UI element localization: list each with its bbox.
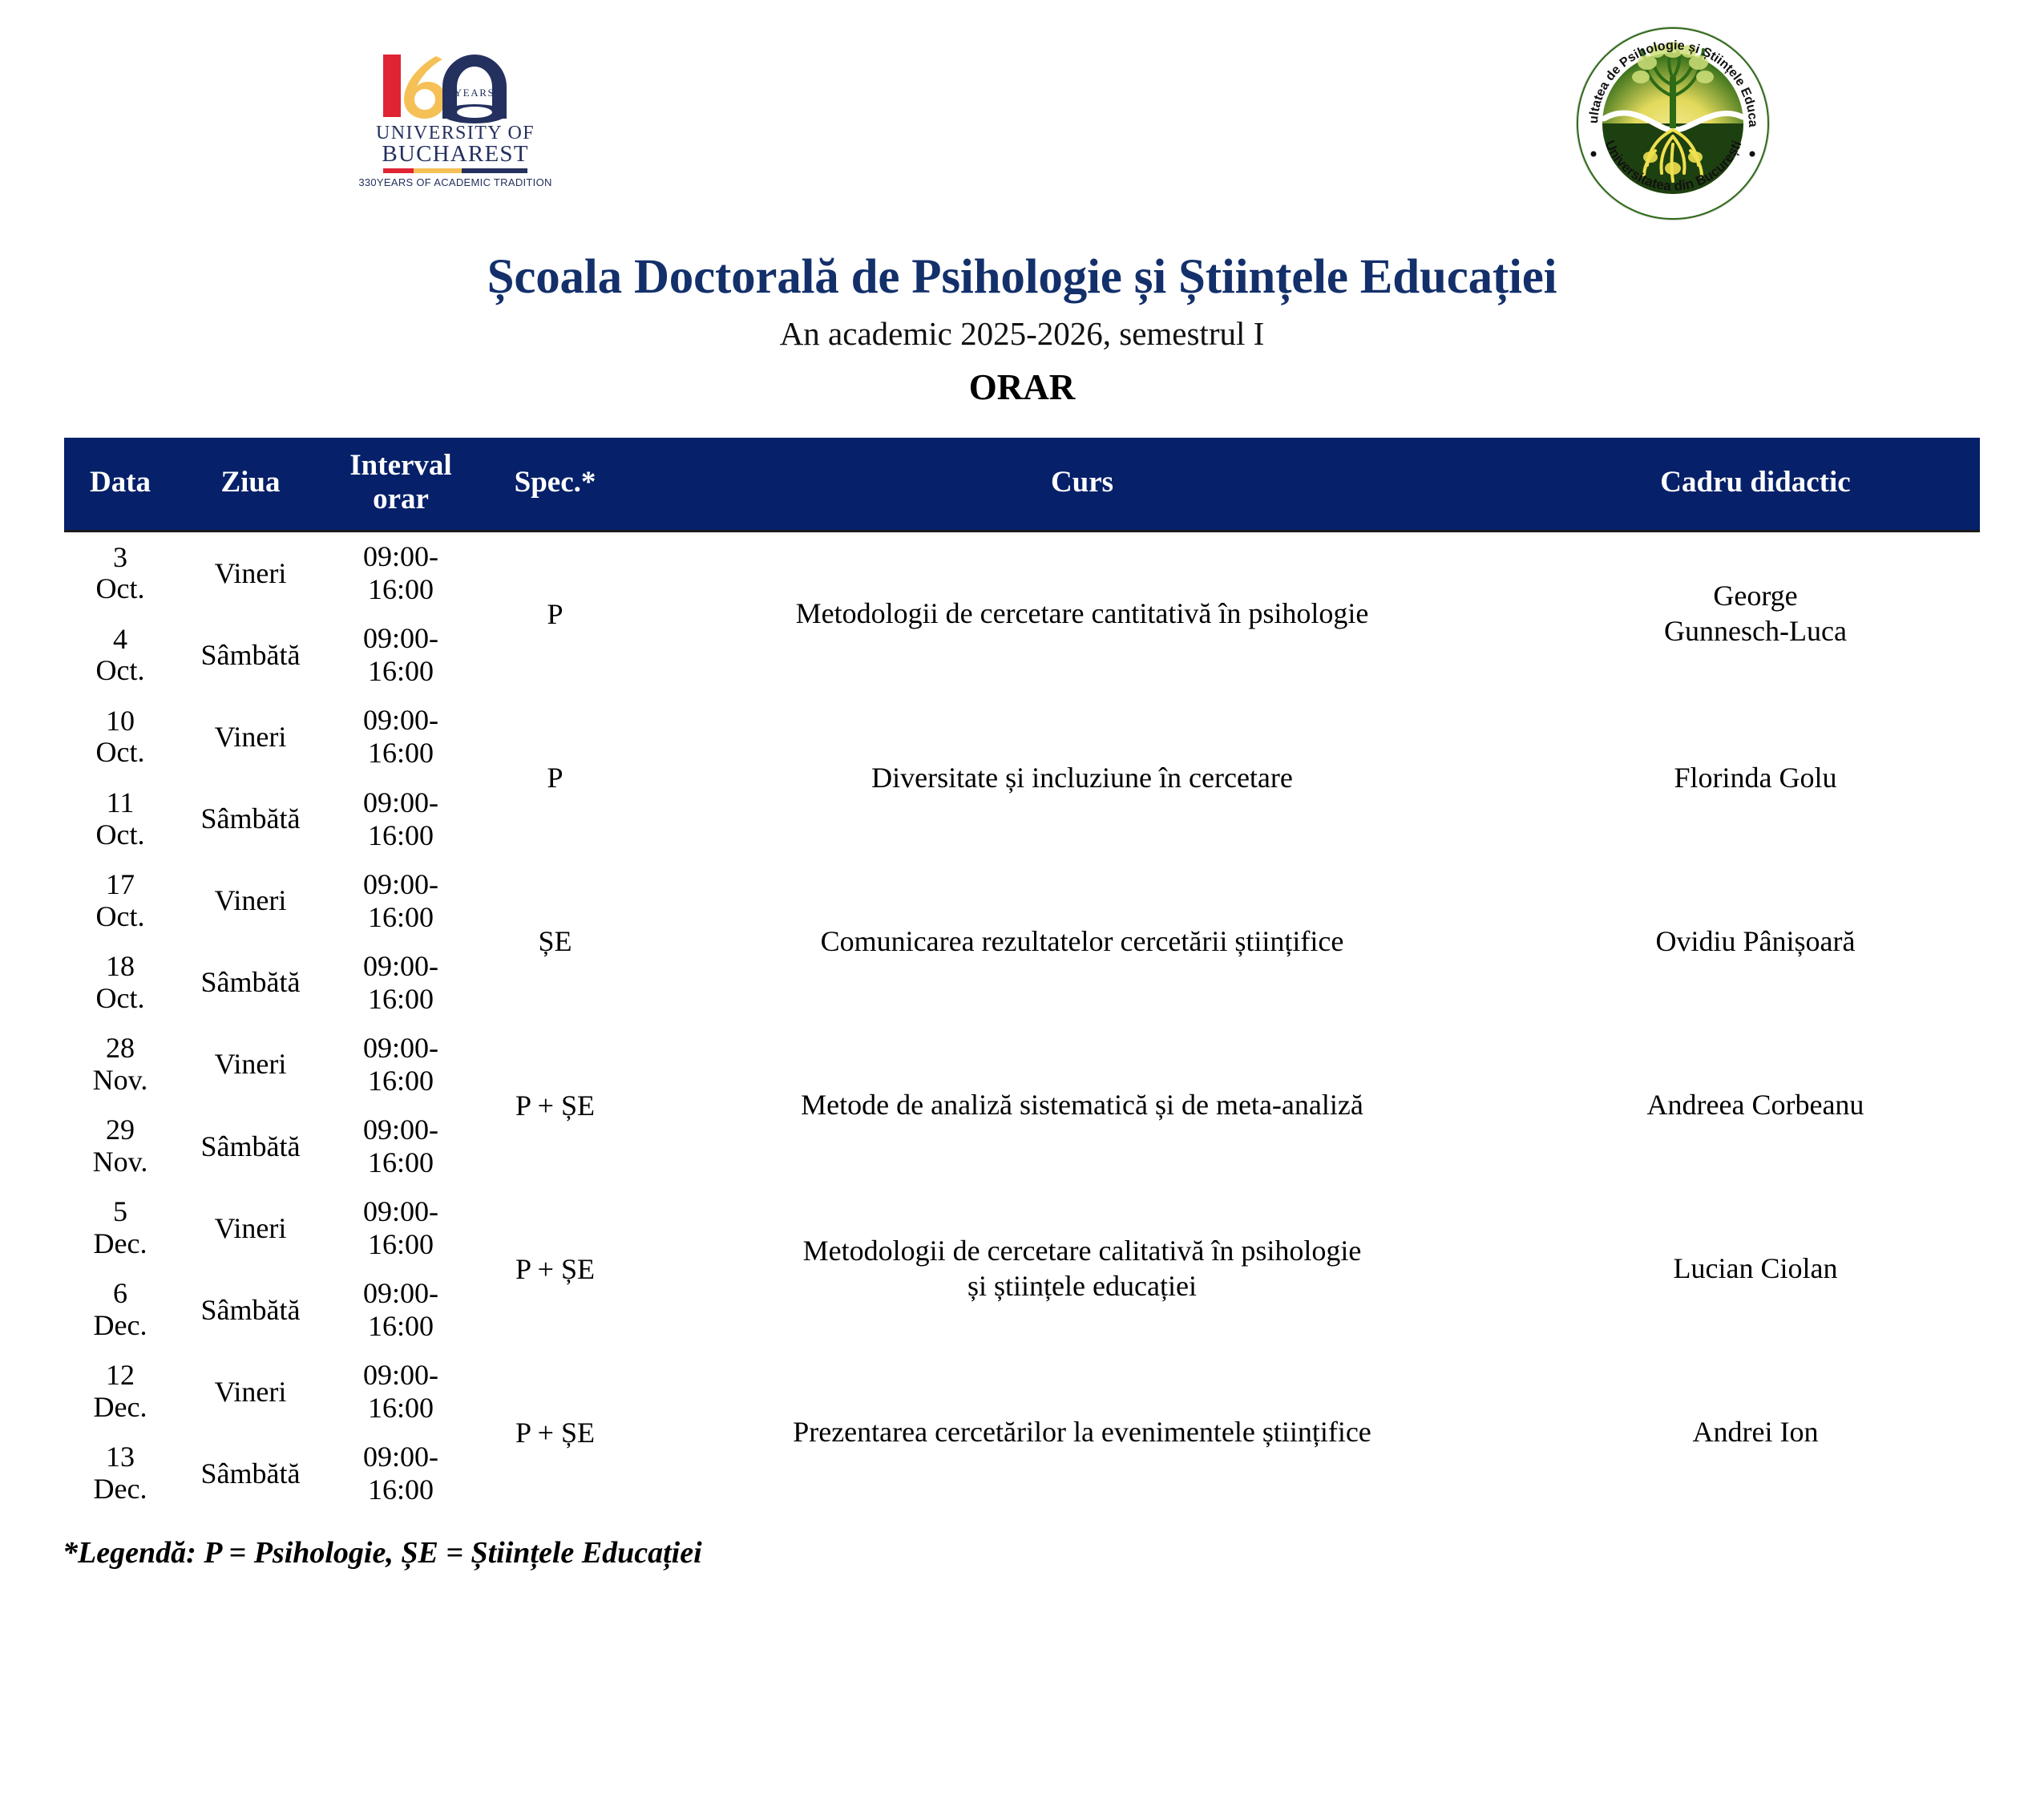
cell-time-end: 16:00 [331, 983, 471, 1016]
logo-band: YEARS UNIVERSITY OF BUCHAREST 330YEARS O… [0, 0, 2044, 232]
column-header-interval-orar: Interval orar [325, 438, 477, 532]
cell-time-end: 16:00 [331, 1392, 471, 1425]
cell-time-end: 16:00 [331, 1065, 471, 1097]
cell-ziua: Vineri [176, 1187, 325, 1269]
cell-curs: Metodologii de cercetare calitativă în p… [633, 1187, 1531, 1351]
cell-day-number: 28 [71, 1033, 170, 1065]
cell-spec: P + ȘE [477, 1187, 633, 1351]
cell-interval-orar: 09:00-16:00 [325, 1433, 477, 1514]
cell-time-end: 16:00 [331, 1310, 471, 1343]
cell-cadru-didactic: Lucian Ciolan [1531, 1187, 1980, 1351]
cell-ziua: Sâmbătă [176, 778, 325, 860]
cell-curs-line1: Comunicarea rezultatelor cercetării știi… [640, 924, 1525, 960]
schedule-table: Data Ziua Interval orar Spec.* Curs Cadr… [64, 438, 1980, 1515]
cell-month: Nov. [71, 1065, 170, 1097]
table-row: 28Nov.Vineri09:00-16:00P + ȘEMetode de a… [64, 1024, 1980, 1106]
cell-interval-orar: 09:00-16:00 [325, 942, 477, 1024]
cell-curs: Prezentarea cercetărilor la evenimentele… [633, 1351, 1531, 1514]
cell-data: 6Dec. [64, 1269, 176, 1351]
cell-month: Dec. [71, 1392, 170, 1424]
table-row: 12Dec.Vineri09:00-16:00P + ȘEPrezentarea… [64, 1351, 1980, 1433]
cell-data: 11Oct. [64, 778, 176, 860]
cell-day-number: 6 [71, 1278, 170, 1310]
cell-ziua: Sâmbătă [176, 942, 325, 1024]
cell-month: Oct. [71, 655, 170, 687]
cell-time-start: 09:00- [331, 950, 471, 983]
cell-time-end: 16:00 [331, 737, 471, 770]
cell-time-end: 16:00 [331, 901, 471, 934]
cell-day-number: 18 [71, 951, 170, 983]
cell-curs-line1: Metode de analiză sistematică și de meta… [640, 1088, 1525, 1123]
cell-time-end: 16:00 [331, 655, 471, 688]
cell-day-number: 5 [71, 1196, 170, 1228]
cell-interval-orar: 09:00-16:00 [325, 614, 477, 696]
cell-ziua: Sâmbătă [176, 1269, 325, 1351]
logo-tagline: 330YEARS OF ACADEMIC TRADITION [359, 176, 551, 188]
cell-day-number: 3 [71, 542, 170, 574]
cell-cadru-line1: Florinda Golu [1537, 761, 1973, 796]
cell-time-start: 09:00- [331, 1114, 471, 1146]
cell-cadru-didactic: Andrei Ion [1531, 1351, 1980, 1514]
column-header-spec: Spec.* [477, 438, 633, 532]
cell-curs-line1: Diversitate și incluziune în cercetare [640, 761, 1525, 796]
cell-cadru-didactic: Ovidiu Pânișoară [1531, 860, 1980, 1024]
cell-data: 12Dec. [64, 1351, 176, 1433]
cell-ziua: Vineri [176, 532, 325, 615]
cell-month: Oct. [71, 819, 170, 851]
column-header-interval-line2: orar [373, 483, 429, 515]
cell-data: 29Nov. [64, 1106, 176, 1187]
cell-curs-line1: Metodologii de cercetare cantitativă în … [640, 596, 1525, 632]
legend-note: *Legendă: P = Psihologie, ȘE = Științele… [63, 1535, 2044, 1570]
cell-time-start: 09:00- [331, 540, 471, 573]
cell-spec: P [477, 532, 633, 697]
cell-time-end: 16:00 [331, 1228, 471, 1261]
cell-interval-orar: 09:00-16:00 [325, 696, 477, 778]
cell-ziua: Vineri [176, 1024, 325, 1106]
cell-cadru-line1: George [1537, 579, 1973, 614]
cell-interval-orar: 09:00-16:00 [325, 1106, 477, 1187]
cell-time-start: 09:00- [331, 704, 471, 737]
cell-month: Nov. [71, 1146, 170, 1178]
cell-time-start: 09:00- [331, 1277, 471, 1310]
university-of-bucharest-logo: YEARS UNIVERSITY OF BUCHAREST 330YEARS O… [359, 34, 551, 206]
cell-day-number: 17 [71, 869, 170, 901]
cell-interval-orar: 09:00-16:00 [325, 1269, 477, 1351]
cell-interval-orar: 09:00-16:00 [325, 778, 477, 860]
cell-day-number: 10 [71, 705, 170, 738]
cell-month: Oct. [71, 573, 170, 605]
cell-month: Dec. [71, 1228, 170, 1260]
cell-ziua: Vineri [176, 1351, 325, 1433]
cell-data: 10Oct. [64, 696, 176, 778]
cell-interval-orar: 09:00-16:00 [325, 1351, 477, 1433]
cell-cadru-didactic: Florinda Golu [1531, 696, 1980, 859]
table-header-row: Data Ziua Interval orar Spec.* Curs Cadr… [64, 438, 1980, 532]
academic-year-subtitle: An academic 2025-2026, semestrul I [0, 314, 2044, 354]
cell-month: Dec. [71, 1473, 170, 1506]
table-header: Data Ziua Interval orar Spec.* Curs Cadr… [64, 438, 1980, 532]
cell-time-end: 16:00 [331, 819, 471, 852]
cell-day-number: 11 [71, 787, 170, 819]
cell-curs-line1: Prezentarea cercetărilor la evenimentele… [640, 1415, 1525, 1450]
cell-time-start: 09:00- [331, 786, 471, 819]
cell-day-number: 12 [71, 1360, 170, 1392]
title-block: Școala Doctorală de Psihologie și Științ… [0, 250, 2044, 409]
cell-time-start: 09:00- [331, 1359, 471, 1392]
column-header-ziua: Ziua [176, 438, 325, 532]
cell-ziua: Vineri [176, 860, 325, 942]
table-body: 3Oct.Vineri09:00-16:00PMetodologii de ce… [64, 532, 1980, 1514]
cell-ziua: Sâmbătă [176, 1106, 325, 1187]
cell-data: 17Oct. [64, 860, 176, 942]
cell-time-start: 09:00- [331, 868, 471, 901]
cell-month: Oct. [71, 737, 170, 769]
cell-spec: P + ȘE [477, 1351, 633, 1514]
schedule-kicker: ORAR [0, 366, 2044, 409]
cell-time-end: 16:00 [331, 1473, 471, 1506]
cell-cadru-line1: Andreea Corbeanu [1537, 1088, 1973, 1123]
cell-time-start: 09:00- [331, 622, 471, 655]
cell-time-end: 16:00 [331, 1146, 471, 1179]
column-header-interval-line1: Interval [349, 449, 451, 482]
cell-cadru-line1: Lucian Ciolan [1537, 1251, 1973, 1287]
schedule-table-wrap: Data Ziua Interval orar Spec.* Curs Cadr… [64, 438, 1980, 1515]
cell-ziua: Sâmbătă [176, 614, 325, 696]
cell-interval-orar: 09:00-16:00 [325, 532, 477, 615]
cell-day-number: 13 [71, 1441, 170, 1473]
faculty-of-psychology-logo: Facultatea de Psihologie și Științele Ed… [1567, 16, 1779, 228]
table-row: 5Dec.Vineri09:00-16:00P + ȘEMetodologii … [64, 1187, 1980, 1269]
cell-curs: Metode de analiză sistematică și de meta… [633, 1024, 1531, 1187]
cell-time-end: 16:00 [331, 573, 471, 606]
cell-interval-orar: 09:00-16:00 [325, 1187, 477, 1269]
cell-month: Oct. [71, 901, 170, 933]
cell-data: 3Oct. [64, 532, 176, 615]
cell-curs: Diversitate și incluziune în cercetare [633, 696, 1531, 859]
cell-interval-orar: 09:00-16:00 [325, 860, 477, 942]
cell-curs: Metodologii de cercetare cantitativă în … [633, 532, 1531, 697]
cell-curs-line1: Metodologii de cercetare calitativă în p… [640, 1234, 1525, 1269]
table-row: 3Oct.Vineri09:00-16:00PMetodologii de ce… [64, 532, 1980, 615]
cell-data: 18Oct. [64, 942, 176, 1024]
cell-cadru-line1: Ovidiu Pânișoară [1537, 924, 1973, 960]
table-row: 10Oct.Vineri09:00-16:00PDiversitate și i… [64, 696, 1980, 778]
cell-curs-line2: și științele educației [640, 1269, 1525, 1304]
cell-cadru-didactic: Andreea Corbeanu [1531, 1024, 1980, 1187]
cell-day-number: 29 [71, 1114, 170, 1146]
cell-data: 5Dec. [64, 1187, 176, 1269]
cell-curs: Comunicarea rezultatelor cercetării știi… [633, 860, 1531, 1024]
cell-cadru-didactic: GeorgeGunnesch-Luca [1531, 532, 1980, 697]
page-title: Școala Doctorală de Psihologie și Științ… [0, 250, 2044, 305]
cell-data: 4Oct. [64, 614, 176, 696]
cell-spec: P + ȘE [477, 1024, 633, 1187]
column-header-cadru-didactic: Cadru didactic [1531, 438, 1980, 532]
cell-cadru-line1: Andrei Ion [1537, 1415, 1973, 1450]
cell-time-start: 09:00- [331, 1441, 471, 1473]
logo-university-line2: BUCHAREST [382, 141, 528, 167]
cell-day-number: 4 [71, 624, 170, 656]
column-header-curs: Curs [633, 438, 1531, 532]
cell-spec: ȘE [477, 860, 633, 1024]
table-row: 17Oct.Vineri09:00-16:00ȘEComunicarea rez… [64, 860, 1980, 942]
cell-time-start: 09:00- [331, 1032, 471, 1065]
cell-interval-orar: 09:00-16:00 [325, 1024, 477, 1106]
cell-data: 13Dec. [64, 1433, 176, 1514]
cell-spec: P [477, 696, 633, 859]
cell-time-start: 09:00- [331, 1195, 471, 1228]
cell-cadru-line2: Gunnesch-Luca [1537, 614, 1973, 649]
cell-ziua: Sâmbătă [176, 1433, 325, 1514]
cell-data: 28Nov. [64, 1024, 176, 1106]
logo-years-label: YEARS [454, 87, 495, 99]
cell-month: Dec. [71, 1310, 170, 1342]
cell-ziua: Vineri [176, 696, 325, 778]
column-header-data: Data [64, 438, 176, 532]
cell-month: Oct. [71, 983, 170, 1015]
